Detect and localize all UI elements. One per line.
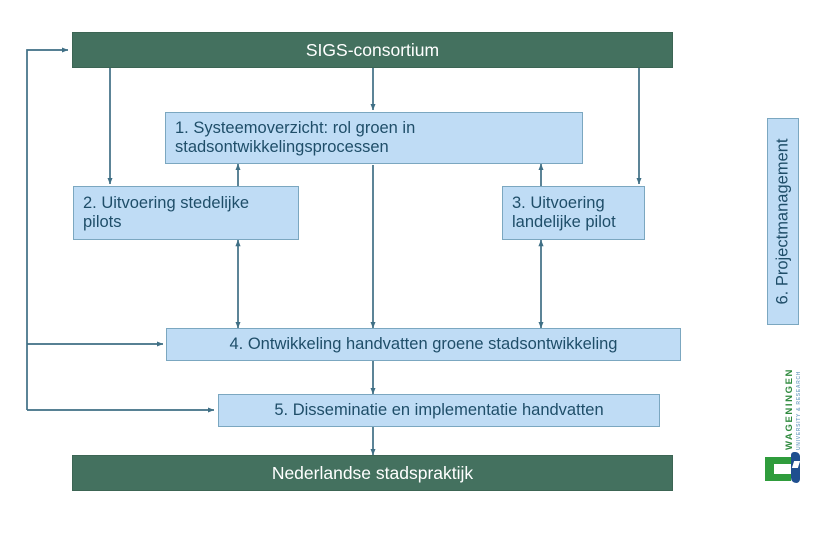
node-box2-label: 2. Uitvoering stedelijke pilots	[83, 194, 292, 232]
wageningen-logo: WAGENINGEN UNIVERSITY & RESEARCH	[760, 360, 820, 485]
node-box5-label: 5. Disseminatie en implementatie handvat…	[274, 401, 603, 420]
node-sigs-consortium[interactable]: SIGS-consortium	[72, 32, 673, 68]
node-box1-systeemoverzicht[interactable]: 1. Systeemoverzicht: rol groen in stadso…	[165, 112, 583, 164]
node-box3-landelijke-pilot[interactable]: 3. Uitvoering landelijke pilot	[502, 186, 645, 240]
node-sigs-consortium-label: SIGS-consortium	[306, 40, 439, 60]
node-box2-stedelijke-pilots[interactable]: 2. Uitvoering stedelijke pilots	[73, 186, 299, 240]
node-box3-label: 3. Uitvoering landelijke pilot	[512, 194, 638, 232]
node-box5-disseminatie[interactable]: 5. Disseminatie en implementatie handvat…	[218, 394, 660, 427]
node-bottom-label: Nederlandse stadspraktijk	[272, 463, 473, 483]
node-projectmanagement-label: 6. Projectmanagement	[774, 138, 793, 304]
node-nederlandse-stadspraktijk[interactable]: Nederlandse stadspraktijk	[72, 455, 673, 491]
node-box4-ontwikkeling-handvatten[interactable]: 4. Ontwikkeling handvatten groene stadso…	[166, 328, 681, 361]
connector-feedback-to-top	[27, 50, 68, 410]
wageningen-tagline: UNIVERSITY & RESEARCH	[796, 371, 802, 450]
diagram-canvas: SIGS-consortium 1. Systeemoverzicht: rol…	[0, 0, 840, 552]
node-box4-label: 4. Ontwikkeling handvatten groene stadso…	[230, 335, 618, 354]
node-box1-label: 1. Systeemoverzicht: rol groen in stadso…	[175, 119, 576, 157]
wageningen-logo-mark-notch	[774, 464, 791, 474]
node-projectmanagement-panel[interactable]: 6. Projectmanagement	[767, 118, 799, 325]
wageningen-wordmark: WAGENINGEN	[784, 368, 795, 450]
